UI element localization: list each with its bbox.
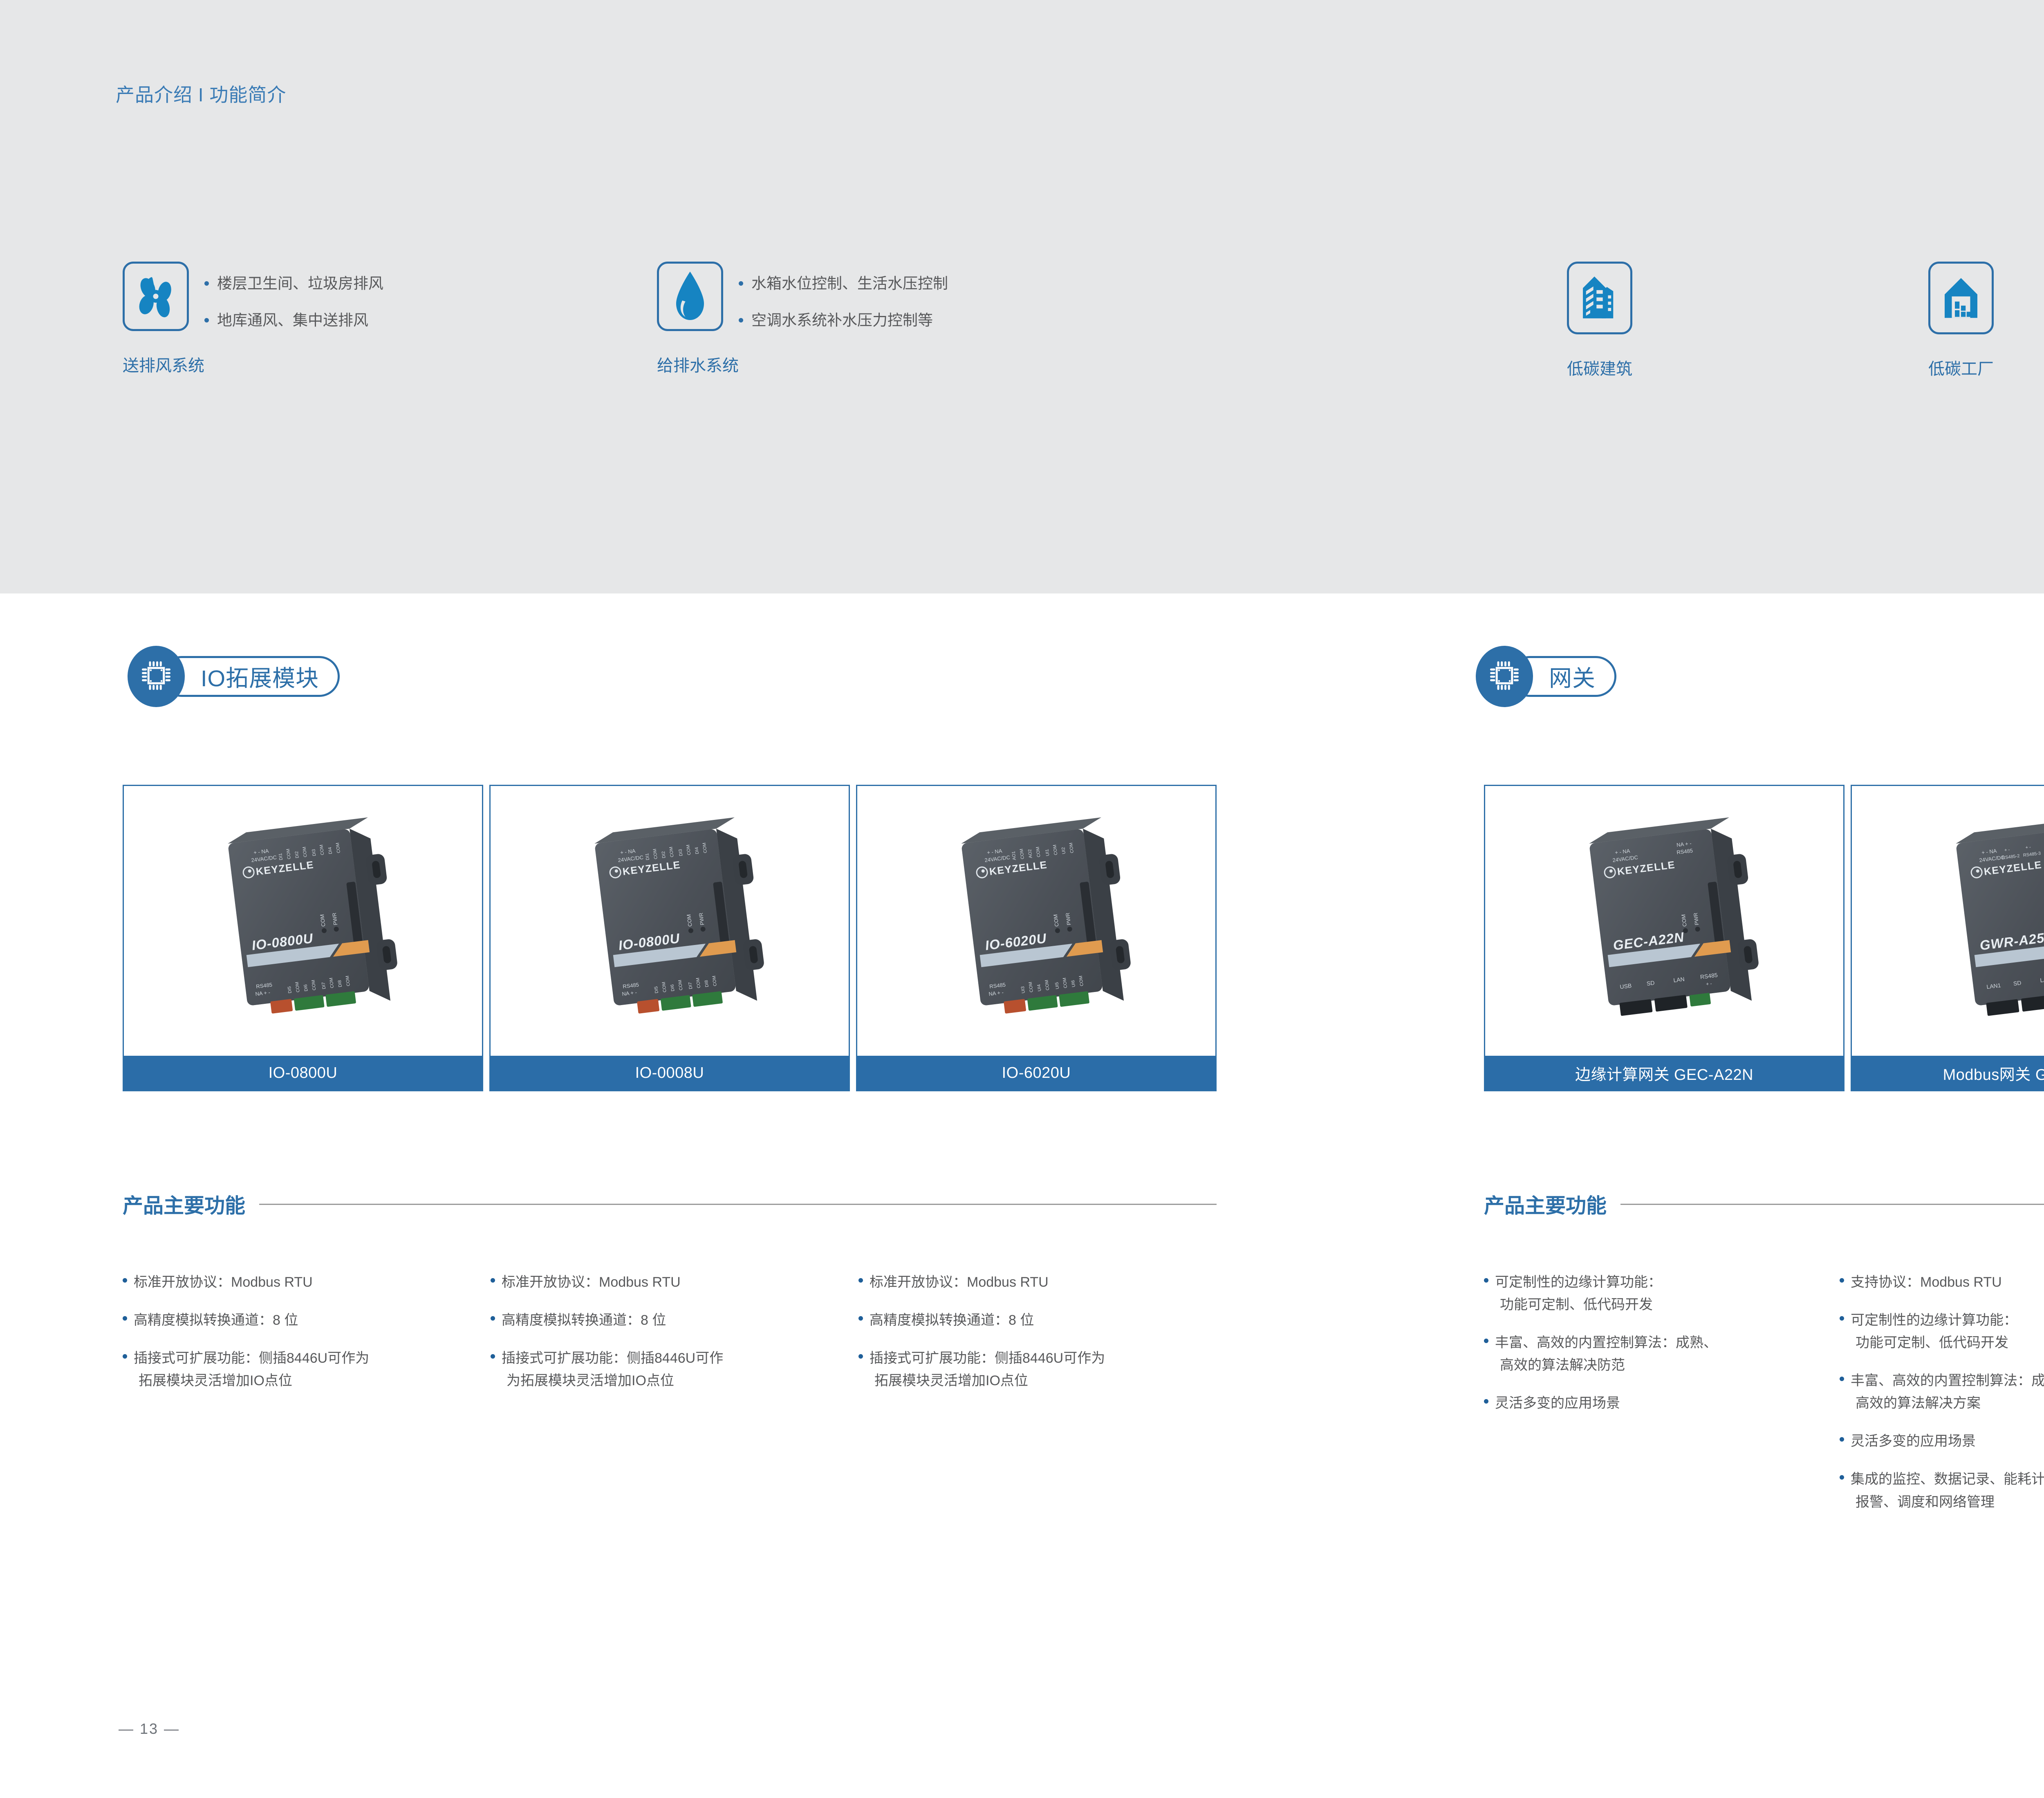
heading-rule bbox=[259, 1204, 1217, 1205]
svg-text:+ -: + - bbox=[2025, 845, 2031, 851]
bullet-dot-icon bbox=[491, 1316, 495, 1321]
factory-icon-card bbox=[1928, 262, 1994, 334]
svg-text:DI5: DI5 bbox=[287, 986, 293, 993]
feature-list-item: 标准开放协议：Modbus RTU bbox=[858, 1271, 1218, 1294]
svg-text:DI1: DI1 bbox=[645, 853, 650, 860]
features-heading-text: 产品主要功能 bbox=[123, 1189, 245, 1219]
office-building-icon bbox=[1578, 275, 1621, 320]
feature-list-item: 标准开放协议：Modbus RTU bbox=[491, 1271, 842, 1294]
svg-text:SD: SD bbox=[2013, 979, 2022, 987]
svg-text:DI6: DI6 bbox=[670, 984, 676, 992]
feature-column: 标准开放协议：Modbus RTU高精度模拟转换通道：8 位插接式可扩展功能：侧… bbox=[123, 1271, 474, 1408]
office-building-icon-card bbox=[1567, 262, 1632, 334]
feature-text: 灵活多变的应用场景 bbox=[1851, 1430, 1976, 1453]
list-item: 空调水系统补水压力控制等 bbox=[739, 311, 948, 330]
bullet-dot-icon bbox=[858, 1316, 863, 1321]
feature-text: 可定制性的边缘计算功能：功能可定制、低代码开发 bbox=[1851, 1309, 2017, 1354]
svg-text:DI1: DI1 bbox=[278, 853, 284, 860]
svg-text:DI2: DI2 bbox=[661, 851, 667, 858]
list-item: 地库通风、集中送排风 bbox=[204, 311, 383, 330]
bullet-dot-icon bbox=[739, 281, 743, 286]
product-caption: IO-0008U bbox=[491, 1056, 849, 1090]
feature-list-item: 高精度模拟转换通道：8 位 bbox=[858, 1309, 1218, 1332]
bullet-dot-icon bbox=[491, 1278, 495, 1283]
feature-text: 插接式可扩展功能：侧插8446U可作为拓展模块灵活增加IO点位 bbox=[870, 1347, 1105, 1392]
heading-rule bbox=[1620, 1204, 2044, 1205]
feature-column: 标准开放协议：Modbus RTU高精度模拟转换通道：8 位插接式可扩展功能：侧… bbox=[858, 1271, 1218, 1408]
svg-text:UI3: UI3 bbox=[1020, 986, 1026, 993]
bullet-dot-icon bbox=[1840, 1377, 1844, 1381]
feature-list-item: 集成的监控、数据记录、能耗计量、报警、调度和网络管理 bbox=[1840, 1468, 2044, 1513]
bullet-text: 地库通风、集中送排风 bbox=[217, 311, 368, 330]
list-item: 水箱水位控制、生活水压控制 bbox=[739, 274, 948, 293]
feature-text: 丰富、高效的内置控制算法：成熟、高效的算法解决方案 bbox=[1851, 1370, 2044, 1415]
section-label: 网关 bbox=[1549, 660, 1596, 693]
svg-text:DI2: DI2 bbox=[294, 851, 300, 858]
svg-text:DI4: DI4 bbox=[327, 847, 333, 854]
application-bullet-list: 楼层卫生间、垃圾房排风 地库通风、集中送排风 bbox=[204, 274, 383, 347]
application-title: 低碳建筑 bbox=[1567, 356, 1632, 379]
chip-icon bbox=[140, 659, 173, 694]
svg-text:UI4: UI4 bbox=[1037, 984, 1042, 992]
chip-icon-badge bbox=[128, 646, 185, 707]
application-block-water: 给排水系统 水箱水位控制、生活水压控制 空调水系统补水压力控制等 bbox=[657, 262, 739, 376]
feature-list-item: 丰富、高效的内置控制算法：成熟、高效的算法解决防范 bbox=[1484, 1332, 1827, 1377]
list-item: 楼层卫生间、垃圾房排风 bbox=[204, 274, 383, 293]
svg-text:LAN: LAN bbox=[1673, 976, 1685, 983]
feature-text: 标准开放协议：Modbus RTU bbox=[134, 1271, 313, 1294]
fan-icon bbox=[131, 272, 180, 321]
feature-text: 支持协议：Modbus RTU bbox=[1851, 1271, 2002, 1294]
product-card[interactable]: KEYZELLE IO-0800U COM PWR + - NA 24VAC/D… bbox=[123, 785, 483, 1091]
feature-text: 高精度模拟转换通道：8 位 bbox=[870, 1309, 1034, 1332]
device-illustration: KEYZELLE IO-6020U COM PWR + - NA 24VAC/D… bbox=[914, 806, 1159, 1035]
fan-icon-card bbox=[123, 262, 189, 331]
svg-text:DI4: DI4 bbox=[694, 847, 700, 854]
svg-text:+ -: + - bbox=[1706, 981, 1712, 987]
product-caption: IO-0800U bbox=[124, 1056, 482, 1090]
feature-text: 标准开放协议：Modbus RTU bbox=[870, 1271, 1049, 1294]
svg-text:DI3: DI3 bbox=[311, 849, 317, 856]
product-card[interactable]: KEYZELLE IO-6020U COM PWR + - NA 24VAC/D… bbox=[856, 785, 1217, 1091]
bullet-dot-icon bbox=[1840, 1278, 1844, 1283]
bullet-dot-icon bbox=[1484, 1399, 1488, 1404]
product-photo: KEYZELLE IO-0800U COM PWR + - NA 24VAC/D… bbox=[124, 786, 482, 1056]
bullet-text: 水箱水位控制、生活水压控制 bbox=[751, 274, 948, 293]
features-heading-io: 产品主要功能 bbox=[123, 1189, 1217, 1219]
svg-text:UI6: UI6 bbox=[1071, 980, 1076, 987]
features-heading-gateway: 产品主要功能 bbox=[1484, 1189, 2044, 1219]
feature-list-item: 标准开放协议：Modbus RTU bbox=[123, 1271, 474, 1294]
product-photo: KEYZELLE GWR-A25N COM PWR + - NA 24VAC/D… bbox=[1852, 786, 2044, 1056]
product-caption: 边缘计算网关 GEC-A22N bbox=[1485, 1056, 1843, 1090]
chip-icon bbox=[1488, 659, 1521, 694]
svg-text:DI8: DI8 bbox=[704, 980, 710, 987]
feature-text: 集成的监控、数据记录、能耗计量、报警、调度和网络管理 bbox=[1851, 1468, 2044, 1513]
bullet-dot-icon bbox=[858, 1278, 863, 1283]
bullet-dot-icon bbox=[491, 1354, 495, 1359]
running-header-left: 产品介绍 I 功能简介 bbox=[116, 80, 286, 107]
svg-text:DI6: DI6 bbox=[303, 984, 309, 992]
application-title: 低碳工厂 bbox=[1928, 356, 1994, 379]
feature-text: 高精度模拟转换通道：8 位 bbox=[134, 1309, 298, 1332]
device-illustration: KEYZELLE GEC-A22N COM PWR + - NA 24VAC/D… bbox=[1542, 806, 1787, 1035]
application-block-ventilation: 送排风系统 楼层卫生间、垃圾房排风 地库通风、集中送排风 bbox=[123, 262, 204, 376]
section-label: IO拓展模块 bbox=[201, 660, 319, 693]
bullet-text: 楼层卫生间、垃圾房排风 bbox=[217, 274, 383, 293]
product-photo: KEYZELLE IO-6020U COM PWR + - NA 24VAC/D… bbox=[857, 786, 1215, 1056]
factory-icon bbox=[1941, 275, 1981, 320]
feature-list-item: 支持协议：Modbus RTU bbox=[1840, 1271, 2044, 1294]
bullet-dot-icon bbox=[1840, 1437, 1844, 1442]
feature-list-item: 可定制性的边缘计算功能：功能可定制、低代码开发 bbox=[1840, 1309, 2044, 1354]
device-illustration: KEYZELLE GWR-A25N COM PWR + - NA 24VAC/D… bbox=[1908, 806, 2044, 1035]
feature-text: 灵活多变的应用场景 bbox=[1495, 1392, 1620, 1415]
feature-text: 标准开放协议：Modbus RTU bbox=[502, 1271, 681, 1294]
svg-text:DI8: DI8 bbox=[337, 980, 343, 987]
svg-text:UI5: UI5 bbox=[1054, 982, 1060, 989]
svg-text:UI1: UI1 bbox=[1044, 849, 1050, 856]
product-photo: KEYZELLE GEC-A22N COM PWR + - NA 24VAC/D… bbox=[1485, 786, 1843, 1056]
bullet-dot-icon bbox=[1484, 1278, 1488, 1283]
feature-text: 高精度模拟转换通道：8 位 bbox=[502, 1309, 666, 1332]
bullet-dot-icon bbox=[204, 318, 209, 322]
product-card[interactable]: KEYZELLE GWR-A25N COM PWR + - NA 24VAC/D… bbox=[1851, 785, 2044, 1091]
svg-text:DI7: DI7 bbox=[321, 982, 327, 989]
feature-list-item: 高精度模拟转换通道：8 位 bbox=[491, 1309, 842, 1332]
svg-text:DI3: DI3 bbox=[678, 849, 684, 856]
application-bullet-list: 水箱水位控制、生活水压控制 空调水系统补水压力控制等 bbox=[739, 274, 948, 347]
device-illustration: KEYZELLE IO-0800U COM PWR + - NA 24VAC/D… bbox=[180, 806, 426, 1035]
bullet-dot-icon bbox=[123, 1354, 127, 1359]
section-pill-gateways: 网关 bbox=[1476, 646, 1616, 707]
bullet-dot-icon bbox=[123, 1316, 127, 1321]
feature-column: 标准开放协议：Modbus RTU高精度模拟转换通道：8 位插接式可扩展功能：侧… bbox=[491, 1271, 842, 1408]
svg-text:UI2: UI2 bbox=[1061, 847, 1067, 854]
application-block-low-carbon-building: 低碳建筑 bbox=[1567, 262, 1632, 379]
section-pill-io-modules: IO拓展模块 bbox=[128, 646, 340, 707]
feature-list-item: 灵活多变的应用场景 bbox=[1484, 1392, 1827, 1415]
feature-list-item: 高精度模拟转换通道：8 位 bbox=[123, 1309, 474, 1332]
feature-list-item: 可定制性的边缘计算功能：功能可定制、低代码开发 bbox=[1484, 1271, 1827, 1316]
water-drop-icon bbox=[670, 271, 710, 322]
feature-column: 可定制性的边缘计算功能：功能可定制、低代码开发丰富、高效的内置控制算法：成熟、高… bbox=[1484, 1271, 1827, 1430]
product-card[interactable]: KEYZELLE IO-0800U COM PWR + - NA 24VAC/D… bbox=[489, 785, 850, 1091]
feature-text: 丰富、高效的内置控制算法：成熟、高效的算法解决防范 bbox=[1495, 1332, 1717, 1377]
application-title: 送排风系统 bbox=[123, 352, 204, 376]
features-heading-text: 产品主要功能 bbox=[1484, 1189, 1607, 1219]
bullet-dot-icon bbox=[739, 318, 743, 322]
svg-text:SD: SD bbox=[1646, 979, 1655, 987]
product-photo: KEYZELLE IO-0800U COM PWR + - NA 24VAC/D… bbox=[491, 786, 849, 1056]
bullet-text: 空调水系统补水压力控制等 bbox=[751, 311, 933, 330]
application-title: 给排水系统 bbox=[657, 352, 739, 376]
water-drop-icon-card bbox=[657, 262, 723, 331]
feature-text: 插接式可扩展功能：侧插8446U可作为拓展模块灵活增加IO点位 bbox=[134, 1347, 369, 1392]
feature-list-item: 插接式可扩展功能：侧插8446U可作为拓展模块灵活增加IO点位 bbox=[858, 1347, 1218, 1392]
feature-text: 可定制性的边缘计算功能：功能可定制、低代码开发 bbox=[1495, 1271, 1662, 1316]
bullet-dot-icon bbox=[1484, 1339, 1488, 1343]
feature-list-item: 插接式可扩展功能：侧插8446U可作为拓展模块灵活增加IO点位 bbox=[123, 1347, 474, 1392]
product-caption: IO-6020U bbox=[857, 1056, 1215, 1090]
bullet-dot-icon bbox=[204, 281, 209, 286]
page-number-left: — 13 — bbox=[119, 1720, 180, 1738]
device-illustration: KEYZELLE IO-0800U COM PWR + - NA 24VAC/D… bbox=[547, 806, 792, 1035]
section-pill-frame: IO拓展模块 bbox=[161, 656, 340, 697]
bullet-dot-icon bbox=[858, 1354, 863, 1359]
bullet-dot-icon bbox=[1840, 1475, 1844, 1480]
svg-text:DI5: DI5 bbox=[654, 986, 659, 993]
chip-icon-badge bbox=[1476, 646, 1533, 707]
svg-text:+ -: + - bbox=[2004, 847, 2010, 853]
application-block-low-carbon-factory: 低碳工厂 bbox=[1928, 262, 1994, 379]
product-card[interactable]: KEYZELLE GEC-A22N COM PWR + - NA 24VAC/D… bbox=[1484, 785, 1845, 1091]
feature-text: 插接式可扩展功能：侧插8446U可作为拓展模块灵活增加IO点位 bbox=[502, 1347, 723, 1392]
bullet-dot-icon bbox=[1840, 1316, 1844, 1321]
feature-list-item: 插接式可扩展功能：侧插8446U可作为拓展模块灵活增加IO点位 bbox=[491, 1347, 842, 1392]
product-caption: Modbus网关 GWR-A25N bbox=[1852, 1056, 2044, 1090]
svg-text:DI7: DI7 bbox=[688, 982, 693, 989]
feature-column: 支持协议：Modbus RTU可定制性的边缘计算功能：功能可定制、低代码开发丰富… bbox=[1840, 1271, 2044, 1529]
bullet-dot-icon bbox=[123, 1278, 127, 1283]
feature-list-item: 灵活多变的应用场景 bbox=[1840, 1430, 2044, 1453]
feature-list-item: 丰富、高效的内置控制算法：成熟、高效的算法解决方案 bbox=[1840, 1370, 2044, 1415]
